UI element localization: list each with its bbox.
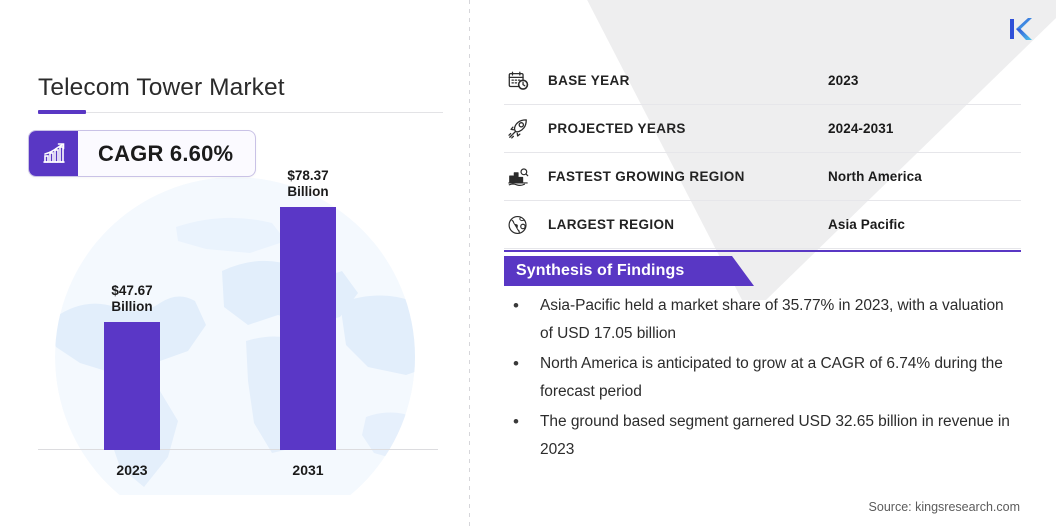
page-title: Telecom Tower Market bbox=[38, 74, 285, 102]
table-row: PROJECTED YEARS 2024-2031 bbox=[504, 105, 1021, 153]
calendar-clock-icon bbox=[504, 70, 548, 92]
findings-top-rule bbox=[504, 250, 1021, 252]
table-value: 2024-2031 bbox=[828, 121, 1021, 136]
list-item: • North America is anticipated to grow a… bbox=[504, 350, 1019, 406]
bullet-icon: • bbox=[513, 292, 519, 320]
table-row: FASTEST GROWING REGION North America bbox=[504, 153, 1021, 201]
findings-list: • Asia-Pacific held a market share of 35… bbox=[504, 292, 1019, 466]
x-tick-label-2023: 2023 bbox=[102, 462, 162, 478]
findings-banner: Synthesis of Findings bbox=[504, 256, 684, 286]
bullet-icon: • bbox=[513, 350, 519, 378]
market-info-table: BASE YEAR 2023 PROJECTED YEARS 2024-2031 bbox=[504, 57, 1021, 249]
table-key: LARGEST REGION bbox=[548, 217, 828, 232]
panel-divider bbox=[469, 0, 470, 528]
list-item-text: The ground based segment garnered USD 32… bbox=[540, 413, 1010, 458]
left-panel: Telecom Tower Market CAGR 6.60% bbox=[0, 0, 470, 528]
list-item-text: North America is anticipated to grow at … bbox=[540, 355, 1003, 400]
list-item-text: Asia-Pacific held a market share of 35.7… bbox=[540, 297, 1004, 342]
table-key: PROJECTED YEARS bbox=[548, 121, 828, 136]
x-tick-label-2031: 2031 bbox=[278, 462, 338, 478]
bar-group-2023: $47.67 Billion bbox=[102, 283, 162, 450]
cagr-badge: CAGR 6.60% bbox=[28, 130, 256, 177]
kings-research-logo-icon bbox=[1006, 14, 1036, 44]
table-value: 2023 bbox=[828, 73, 1021, 88]
table-row: LARGEST REGION Asia Pacific bbox=[504, 201, 1021, 249]
bar-group-2031: $78.37 Billion bbox=[278, 168, 338, 450]
bar-value-label-2023: $47.67 Billion bbox=[111, 283, 152, 315]
source-label: Source: kingsresearch.com bbox=[869, 500, 1020, 514]
market-size-bar-chart: $47.67 Billion $78.37 Billion 2023 2031 bbox=[38, 196, 438, 486]
table-key: BASE YEAR bbox=[548, 73, 828, 88]
globe-icon bbox=[504, 214, 548, 236]
cagr-value-label: CAGR 6.60% bbox=[78, 131, 255, 176]
bar-chart-growth-icon bbox=[29, 131, 78, 176]
list-item: • The ground based segment garnered USD … bbox=[504, 408, 1019, 464]
bar-2031 bbox=[280, 207, 336, 450]
findings-heading: Synthesis of Findings bbox=[504, 256, 684, 286]
infographic-page: Telecom Tower Market CAGR 6.60% bbox=[0, 0, 1056, 528]
title-accent-bar bbox=[38, 110, 86, 114]
list-item: • Asia-Pacific held a market share of 35… bbox=[504, 292, 1019, 348]
table-row: BASE YEAR 2023 bbox=[504, 57, 1021, 105]
table-value: Asia Pacific bbox=[828, 217, 1021, 232]
title-divider bbox=[38, 112, 443, 113]
bar-value-label-2031: $78.37 Billion bbox=[287, 168, 328, 200]
bullet-icon: • bbox=[513, 408, 519, 436]
bar-2023 bbox=[104, 322, 160, 450]
right-panel: BASE YEAR 2023 PROJECTED YEARS 2024-2031 bbox=[470, 0, 1056, 528]
city-growth-icon bbox=[504, 166, 548, 188]
table-key: FASTEST GROWING REGION bbox=[548, 169, 828, 184]
chart-x-axis bbox=[38, 449, 438, 450]
table-value: North America bbox=[828, 169, 1021, 184]
rocket-icon bbox=[504, 118, 548, 140]
